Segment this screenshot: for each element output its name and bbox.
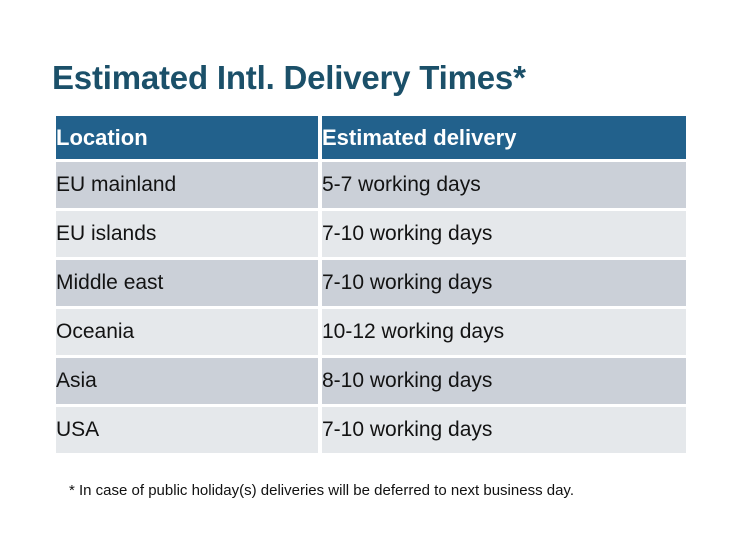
table-row: Asia 8-10 working days (56, 358, 686, 404)
table-header: Location Estimated delivery (56, 116, 686, 159)
column-header-location: Location (56, 116, 318, 159)
delivery-times-page: Estimated Intl. Delivery Times* Location… (0, 0, 745, 536)
delivery-times-table: Location Estimated delivery EU mainland … (52, 113, 690, 456)
cell-location: Asia (56, 358, 318, 404)
page-title: Estimated Intl. Delivery Times* (52, 58, 526, 98)
table-row: Middle east 7-10 working days (56, 260, 686, 306)
cell-estimated: 8-10 working days (322, 358, 686, 404)
cell-location: Oceania (56, 309, 318, 355)
cell-estimated: 7-10 working days (322, 260, 686, 306)
column-header-estimated-delivery: Estimated delivery (322, 116, 686, 159)
cell-location: EU mainland (56, 162, 318, 208)
cell-estimated: 7-10 working days (322, 407, 686, 453)
cell-location: Middle east (56, 260, 318, 306)
cell-location: USA (56, 407, 318, 453)
footnote: * In case of public holiday(s) deliverie… (69, 481, 574, 501)
table-row: USA 7-10 working days (56, 407, 686, 453)
cell-estimated: 7-10 working days (322, 211, 686, 257)
table-row: EU islands 7-10 working days (56, 211, 686, 257)
cell-estimated: 10-12 working days (322, 309, 686, 355)
table-row: EU mainland 5-7 working days (56, 162, 686, 208)
table-row: Oceania 10-12 working days (56, 309, 686, 355)
table-body: EU mainland 5-7 working days EU islands … (56, 162, 686, 453)
table-header-row: Location Estimated delivery (56, 116, 686, 159)
cell-location: EU islands (56, 211, 318, 257)
cell-estimated: 5-7 working days (322, 162, 686, 208)
